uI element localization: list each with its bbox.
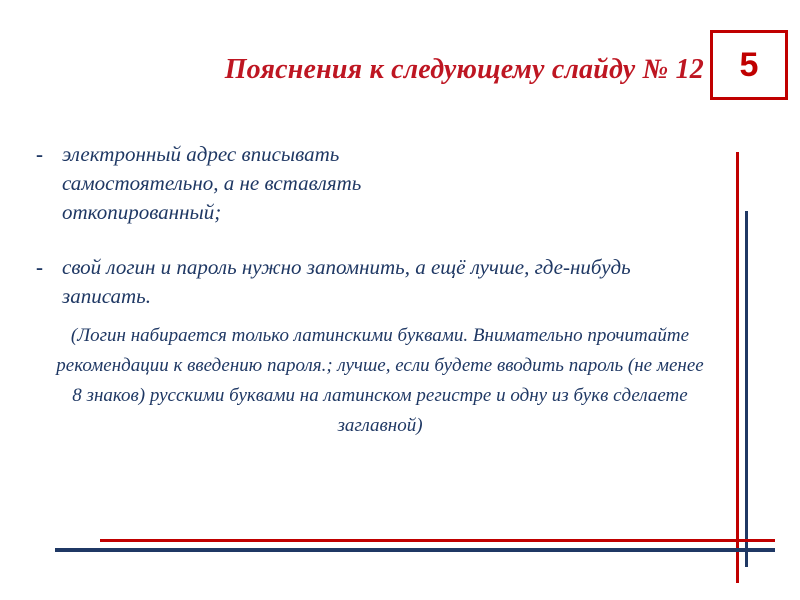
list-item-text: свой логин и пароль нужно запомнить, а е…: [62, 253, 682, 311]
decorative-vertical-line-red: [736, 152, 739, 583]
bullet-dash-icon: -: [36, 253, 62, 282]
slide-canvas: Пояснения к следующему слайду № 12 5 - э…: [0, 0, 800, 600]
decorative-horizontal-line-navy: [55, 548, 775, 552]
list-item-text: электронный адрес вписывать самостоятель…: [62, 140, 492, 227]
decorative-horizontal-line-red: [100, 539, 775, 542]
slide-number-badge: 5: [710, 30, 788, 100]
body-content: - электронный адрес вписывать самостояте…: [36, 140, 716, 441]
list-item: - электронный адрес вписывать самостояте…: [36, 140, 716, 227]
page-title: Пояснения к следующему слайду № 12: [44, 48, 704, 92]
slide-number-value: 5: [713, 33, 785, 97]
bullet-dash-icon: -: [36, 140, 62, 169]
note-paragraph: (Логин набирается только латинскими букв…: [50, 321, 710, 441]
decorative-vertical-line-navy: [745, 211, 748, 567]
list-item: - свой логин и пароль нужно запомнить, а…: [36, 253, 716, 311]
